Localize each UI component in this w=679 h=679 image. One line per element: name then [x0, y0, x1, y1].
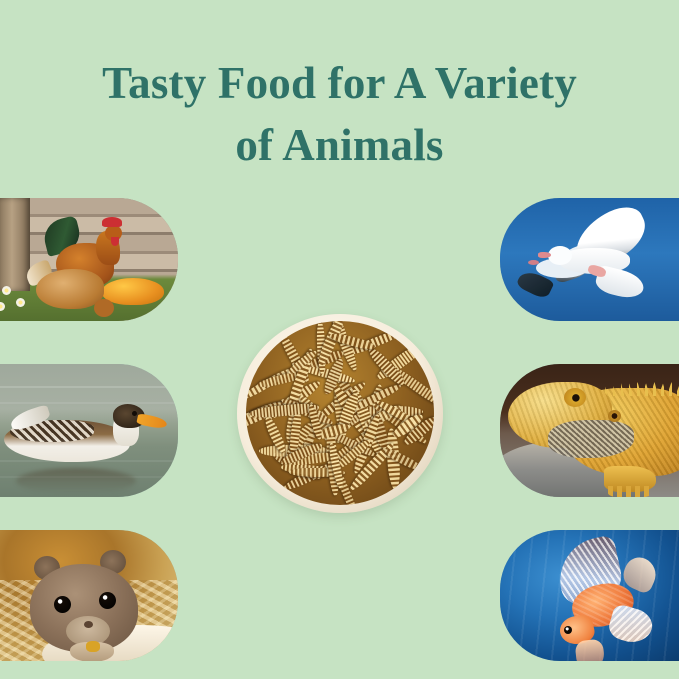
photo-duck: Duck swimming on water [0, 364, 178, 497]
page-title: Tasty Food for A Variety of Animals [0, 52, 679, 176]
betta-fish-icon [548, 542, 658, 654]
duck-icon [4, 406, 159, 472]
wooden-post [0, 198, 30, 291]
bearded-dragon-scene [500, 364, 679, 497]
photo-chickens: Chickens and rooster in farmyard [0, 198, 178, 321]
daisy-icon [2, 286, 11, 295]
photo-bearded-dragon: Bearded dragon lizard on rock [500, 364, 679, 497]
mealworm-pile [246, 321, 434, 505]
betta-fish-scene [500, 530, 679, 661]
product-caption [237, 314, 238, 315]
photo-seagulls: Seagulls flying in blue sky [500, 198, 679, 321]
bearded-dragon-icon [508, 372, 679, 490]
daisy-icon [0, 302, 5, 311]
seagull-sky-scene [500, 198, 679, 321]
daisy-icon [16, 298, 25, 307]
photo-betta-fish: Betta fish swimming in blue water [500, 530, 679, 661]
hamster-scene [0, 530, 178, 661]
seagull-primary-icon [544, 220, 654, 292]
photo-hamster: Hamster eating from dish [0, 530, 178, 661]
mealworm-bowl [237, 314, 443, 513]
chicken-farmyard-scene [0, 198, 178, 321]
title-line-1: Tasty Food for A Variety [0, 52, 679, 114]
hen-icon [36, 263, 114, 317]
title-line-2: of Animals [0, 114, 679, 176]
hamster-icon [30, 550, 142, 654]
product-poster: Tasty Food for A Variety of Animals [0, 0, 679, 679]
duck-water-scene [0, 364, 178, 497]
